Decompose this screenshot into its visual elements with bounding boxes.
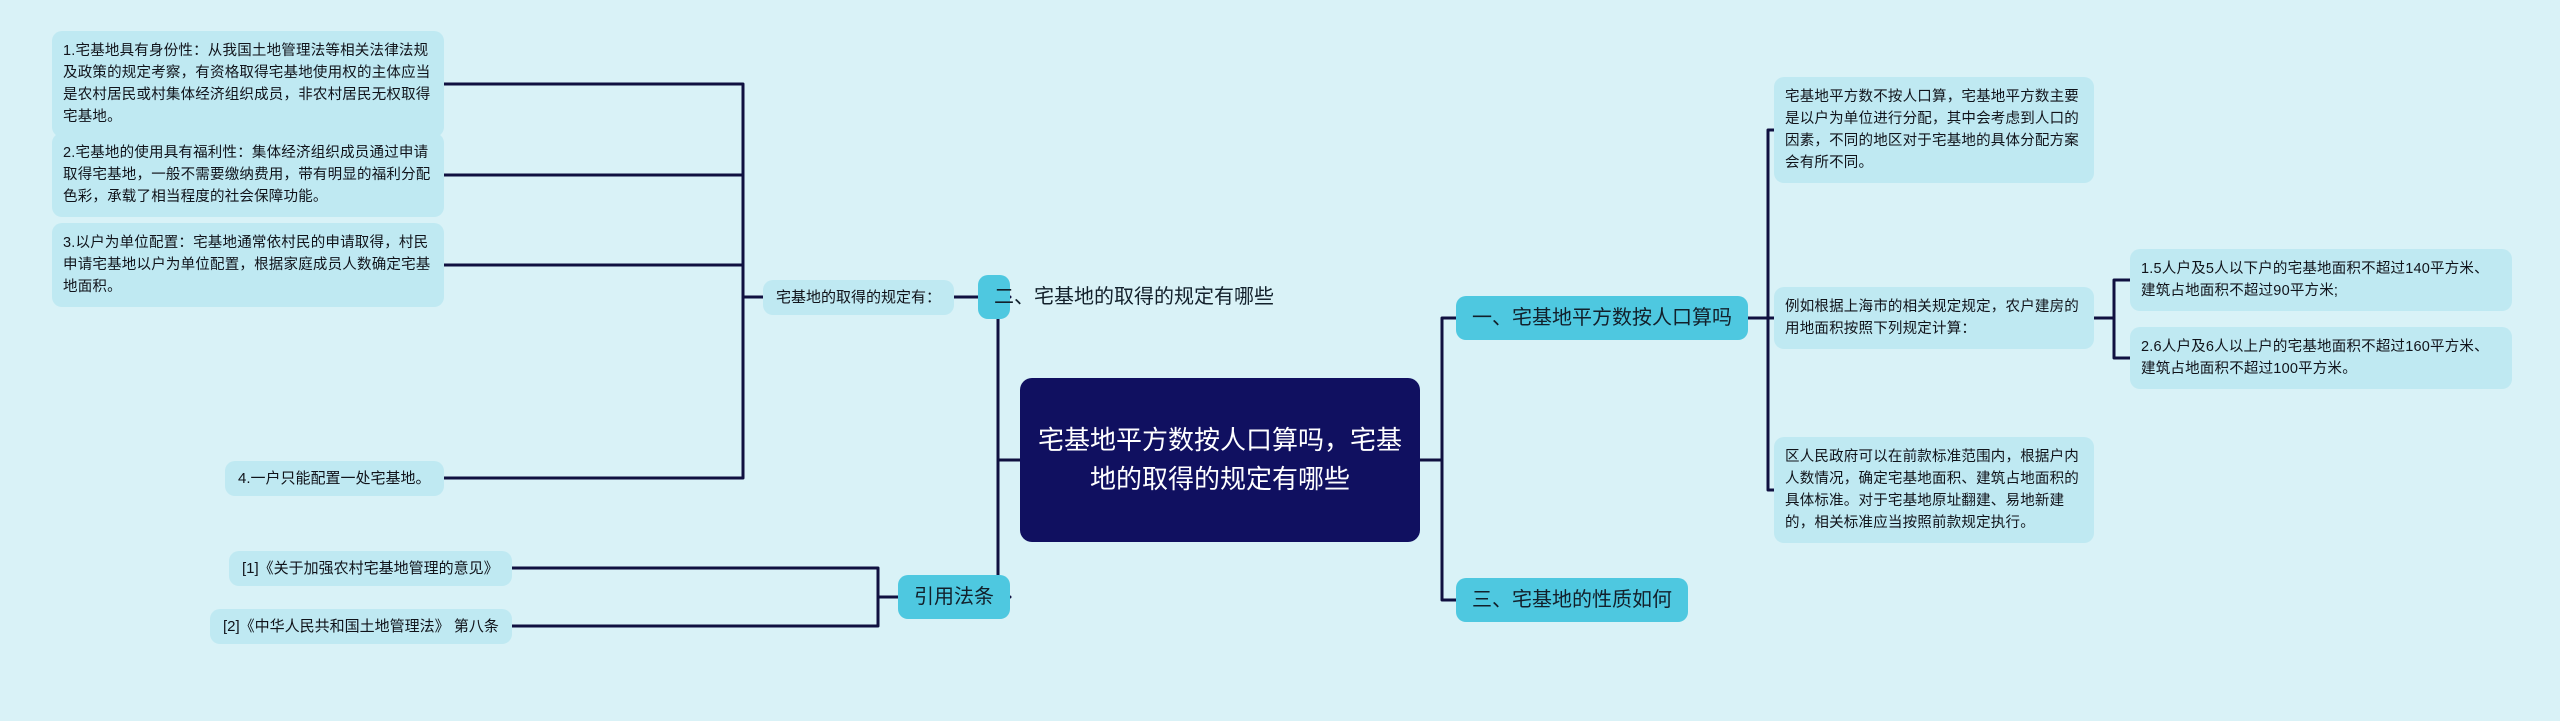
leaf-left-item-1[interactable]: 1.宅基地具有身份性：从我国土地管理法等相关法律法规及政策的规定考察，有资格取得…: [52, 31, 444, 137]
leaf-left-item-4[interactable]: 4.一户只能配置一处宅基地。: [225, 461, 444, 496]
branch-right-area-per-person-label: 一、宅基地平方数按人口算吗: [1472, 305, 1732, 331]
leaf-right-subitem-2[interactable]: 2.6人户及6人以上户的宅基地面积不超过160平方米、建筑占地面积不超过100平…: [2130, 327, 2512, 389]
branch-left-acquisition-rules[interactable]: 二、宅基地的取得的规定有哪些: [978, 275, 1010, 319]
branch-right-nature-of-homestead[interactable]: 三、宅基地的性质如何: [1456, 578, 1688, 622]
leaf-right-item-2[interactable]: 例如根据上海市的相关规定规定，农户建房的用地面积按照下列规定计算：: [1774, 287, 2094, 349]
leaf-left-item-2[interactable]: 2.宅基地的使用具有福利性：集体经济组织成员通过申请取得宅基地，一般不需要缴纳费…: [52, 133, 444, 217]
leaf-left-item-3[interactable]: 3.以户为单位配置：宅基地通常依村民的申请取得，村民申请宅基地以户为单位配置，根…: [52, 223, 444, 307]
branch-left-citations-label: 引用法条: [914, 584, 994, 610]
leaf-right-subitem-1[interactable]: 1.5人户及5人以下户的宅基地面积不超过140平方米、建筑占地面积不超过90平方…: [2130, 249, 2512, 311]
sub-label-acquisition-rules[interactable]: 宅基地的取得的规定有：: [763, 280, 954, 315]
leaf-right-item-1[interactable]: 宅基地平方数不按人口算，宅基地平方数主要是以户为单位进行分配，其中会考虑到人口的…: [1774, 77, 2094, 183]
leaf-right-item-2-text: 例如根据上海市的相关规定规定，农户建房的用地面积按照下列规定计算：: [1785, 296, 2083, 340]
leaf-right-subitem-1-text: 1.5人户及5人以下户的宅基地面积不超过140平方米、建筑占地面积不超过90平方…: [2141, 258, 2501, 302]
root-title: 宅基地平方数按人口算吗，宅基地的取得的规定有哪些: [1038, 421, 1402, 499]
sub-label-acquisition-rules-text: 宅基地的取得的规定有：: [776, 287, 941, 308]
leaf-left-item-4-text: 4.一户只能配置一处宅基地。: [238, 468, 431, 489]
citation-item-2[interactable]: [2]《中华人民共和国土地管理法》 第八条: [210, 609, 512, 644]
leaf-left-item-3-text: 3.以户为单位配置：宅基地通常依村民的申请取得，村民申请宅基地以户为单位配置，根…: [63, 232, 433, 298]
root-node[interactable]: 宅基地平方数按人口算吗，宅基地的取得的规定有哪些: [1020, 378, 1420, 542]
leaf-left-item-1-text: 1.宅基地具有身份性：从我国土地管理法等相关法律法规及政策的规定考察，有资格取得…: [63, 40, 433, 128]
leaf-right-item-1-text: 宅基地平方数不按人口算，宅基地平方数主要是以户为单位进行分配，其中会考虑到人口的…: [1785, 86, 2083, 174]
branch-right-area-per-person[interactable]: 一、宅基地平方数按人口算吗: [1456, 296, 1748, 340]
citation-item-2-text: [2]《中华人民共和国土地管理法》 第八条: [223, 616, 499, 637]
leaf-right-item-3[interactable]: 区人民政府可以在前款标准范围内，根据户内人数情况，确定宅基地面积、建筑占地面积的…: [1774, 437, 2094, 543]
citation-item-1[interactable]: [1]《关于加强农村宅基地管理的意见》: [229, 551, 512, 586]
leaf-right-item-3-text: 区人民政府可以在前款标准范围内，根据户内人数情况，确定宅基地面积、建筑占地面积的…: [1785, 446, 2083, 534]
branch-left-citations[interactable]: 引用法条: [898, 575, 1010, 619]
citation-item-1-text: [1]《关于加强农村宅基地管理的意见》: [242, 558, 499, 579]
leaf-left-item-2-text: 2.宅基地的使用具有福利性：集体经济组织成员通过申请取得宅基地，一般不需要缴纳费…: [63, 142, 433, 208]
branch-right-nature-of-homestead-label: 三、宅基地的性质如何: [1472, 587, 1672, 613]
mindmap-canvas: 宅基地平方数按人口算吗，宅基地的取得的规定有哪些 二、宅基地的取得的规定有哪些 …: [0, 0, 2560, 721]
leaf-right-subitem-2-text: 2.6人户及6人以上户的宅基地面积不超过160平方米、建筑占地面积不超过100平…: [2141, 336, 2501, 380]
